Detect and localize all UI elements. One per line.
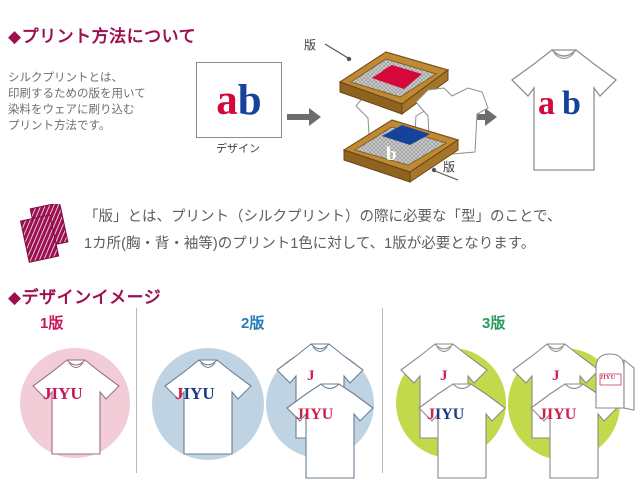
definition-text: 「版」とは、プリント（シルクプリント）の際に必要な「型」のことで、1カ所(胸・背… [84,204,636,258]
tshirt-letter-a: a [538,85,555,122]
panel-label-3ban: 3版 [482,312,505,333]
callout-label-plate-bottom: 版 [443,158,455,175]
panel2-tshirt-1 [156,352,260,460]
panel-label-1ban: 1版 [40,312,63,333]
result-tshirt: a b [500,40,628,180]
infographic-canvas: ◆プリント方法について シルクプリントとは、 印刷するための版を用いて 染料をウ… [0,0,640,479]
tshirt-letter-b: b [562,85,581,122]
letter-a-red: a [216,77,238,124]
design-letters: ab [216,79,261,122]
screen-plates-icon [18,204,76,266]
screen-plate-diagram: a b [320,30,500,190]
panel1-tshirt-1 [24,352,128,460]
panel2-tshirt-3 [278,380,382,480]
panel3-sleeve-tag [592,346,638,416]
definition-band: 「版」とは、プリント（シルクプリント）の際に必要な「型」のことで、1カ所(胸・背… [0,196,640,272]
definition-line-2: 1カ所(胸・背・袖等)のプリント1色に対して、1版が必要となります。 [84,236,535,252]
panel-divider-2 [382,308,383,473]
letter-b-blue: b [238,77,262,124]
page-title-design-image: ◆デザインイメージ [8,283,161,308]
definition-line-1: 「版」とは、プリント（シルクプリント）の際に必要な「型」のことで、 [84,209,561,225]
design-box-caption: デザイン [196,140,280,156]
callout-label-plate-top: 版 [304,36,316,53]
callout-leader-top [325,44,351,61]
design-preview-box: ab [196,62,282,138]
panel3-tshirt-2 [410,380,514,480]
right-arrow-icon-1 [287,108,321,126]
panel-divider-1 [136,308,137,473]
page-title-print-method: ◆プリント方法について [8,22,196,47]
svg-text:b: b [386,144,397,165]
panel-label-2ban: 2版 [241,312,264,333]
intro-paragraph: シルクプリントとは、 印刷するための版を用いて 染料をウェアに刷り込む プリント… [8,70,183,134]
